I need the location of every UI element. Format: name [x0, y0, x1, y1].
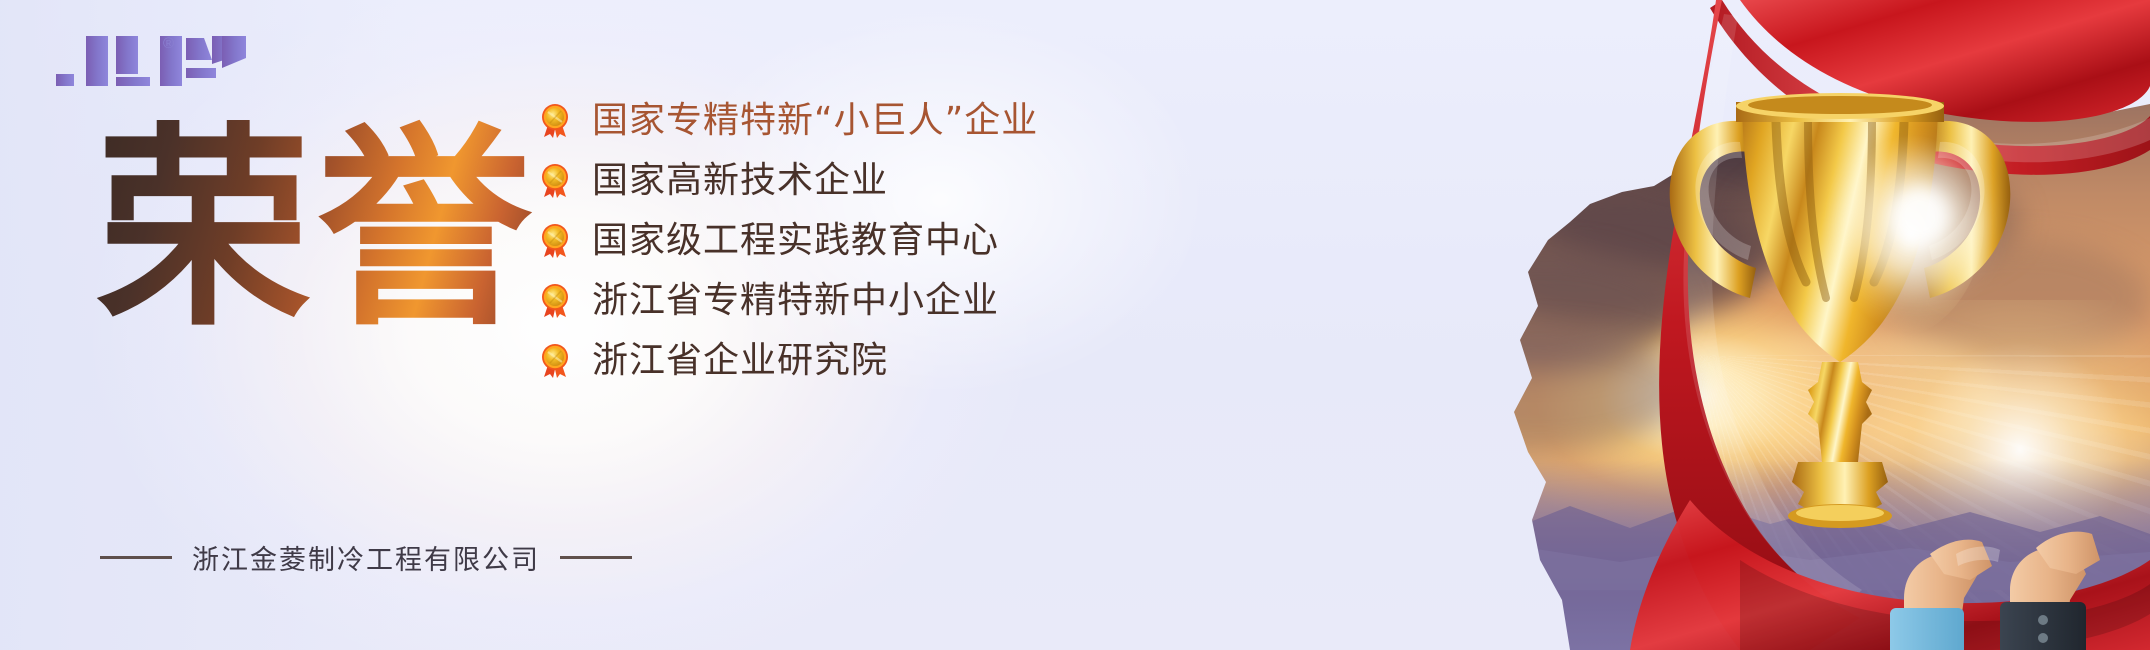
- honor-label: 浙江省企业研究院: [592, 343, 888, 379]
- divider-left: [100, 556, 172, 559]
- company-name-row: 浙江金菱制冷工程有限公司: [100, 538, 632, 577]
- list-item[interactable]: 浙江省企业研究院: [540, 332, 1160, 389]
- gold-rosette-medal-icon: [540, 163, 570, 199]
- honor-label: 国家高新技术企业: [592, 163, 888, 199]
- honor-label: 国家专精特新“小巨人”企业: [592, 103, 1038, 139]
- honor-label: 国家级工程实践教育中心: [592, 223, 999, 259]
- list-item[interactable]: 浙江省专精特新中小企业: [540, 272, 1160, 329]
- list-item[interactable]: 国家高新技术企业: [540, 152, 1160, 209]
- gold-trophy-icon: [1630, 10, 2050, 535]
- gold-rosette-medal-icon: [540, 283, 570, 319]
- page-title: 荣誉: [96, 112, 536, 347]
- list-item[interactable]: 国家级工程实践教育中心: [540, 212, 1160, 269]
- honor-label: 浙江省专精特新中小企业: [592, 283, 999, 319]
- gold-rosette-medal-icon: [540, 103, 570, 139]
- gold-rosette-medal-icon: [540, 223, 570, 259]
- honor-banner: ® 荣誉 浙江金菱制冷工程有限公司: [0, 0, 2150, 650]
- page-title-wrap: 荣誉: [96, 112, 536, 362]
- trophy-photo: [1270, 0, 2150, 650]
- honor-list: 国家专精特新“小巨人”企业 国家高新技术企业: [540, 92, 1160, 392]
- company-name: 浙江金菱制冷工程有限公司: [192, 538, 540, 577]
- list-item[interactable]: 国家专精特新“小巨人”企业: [540, 92, 1160, 149]
- registered-trademark-icon: ®: [163, 36, 174, 51]
- divider-right: [560, 556, 632, 559]
- raised-hands-icon: [1860, 470, 2150, 650]
- gold-rosette-medal-icon: [540, 343, 570, 379]
- company-logo[interactable]: [56, 34, 246, 86]
